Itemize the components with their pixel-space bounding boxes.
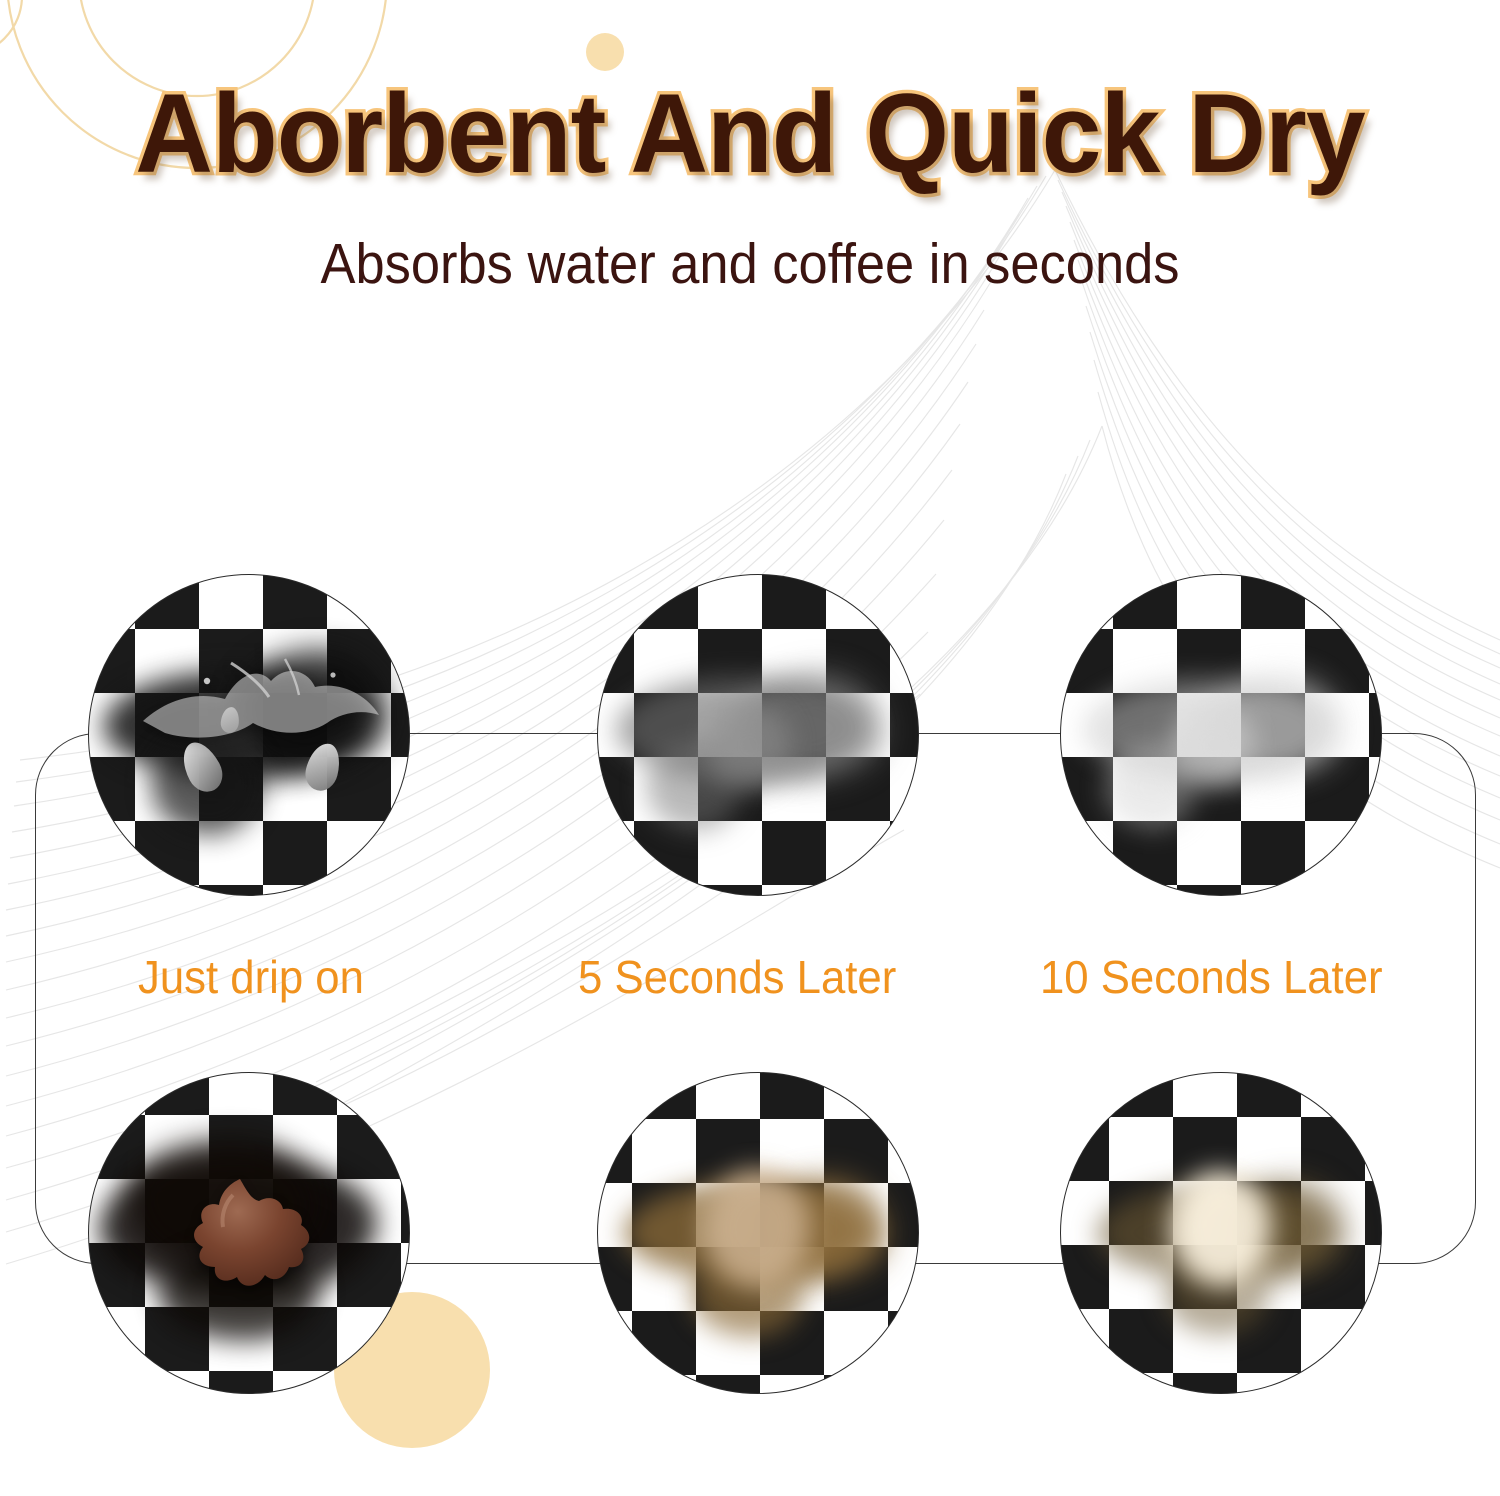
- demo-circle-water-5s: [597, 574, 919, 896]
- infographic-canvas: Aborbent And Quick Dry Absorbs water and…: [0, 0, 1500, 1496]
- water-stain-10s-core: [1173, 705, 1253, 787]
- coffee-splash-icon: [185, 1173, 315, 1295]
- demo-circle-water-10s: [1060, 574, 1382, 896]
- page-title: Aborbent And Quick Dry: [30, 78, 1470, 190]
- stage-label-5-seconds-later: 5 Seconds Later: [578, 950, 896, 1004]
- coffee-stain-5s-core: [704, 1169, 810, 1289]
- page-subtitle: Absorbs water and coffee in seconds: [60, 236, 1440, 293]
- stage-label-just-drip-on: Just drip on: [138, 950, 364, 1004]
- demo-circle-coffee-5s: [597, 1072, 919, 1394]
- water-splash-icon: [135, 651, 385, 771]
- demo-circle-coffee-drip: [88, 1072, 410, 1394]
- stage-label-10-seconds-later: 10 Seconds Later: [1040, 950, 1383, 1004]
- demo-circle-coffee-10s: [1060, 1072, 1382, 1394]
- coffee-stain-10s-core: [1171, 1171, 1271, 1287]
- demo-circle-water-drip: [88, 574, 410, 896]
- far-left-arc-icon: [0, 0, 22, 56]
- top-cream-dot-icon: [586, 33, 624, 71]
- water-stain-5s-core: [708, 703, 790, 789]
